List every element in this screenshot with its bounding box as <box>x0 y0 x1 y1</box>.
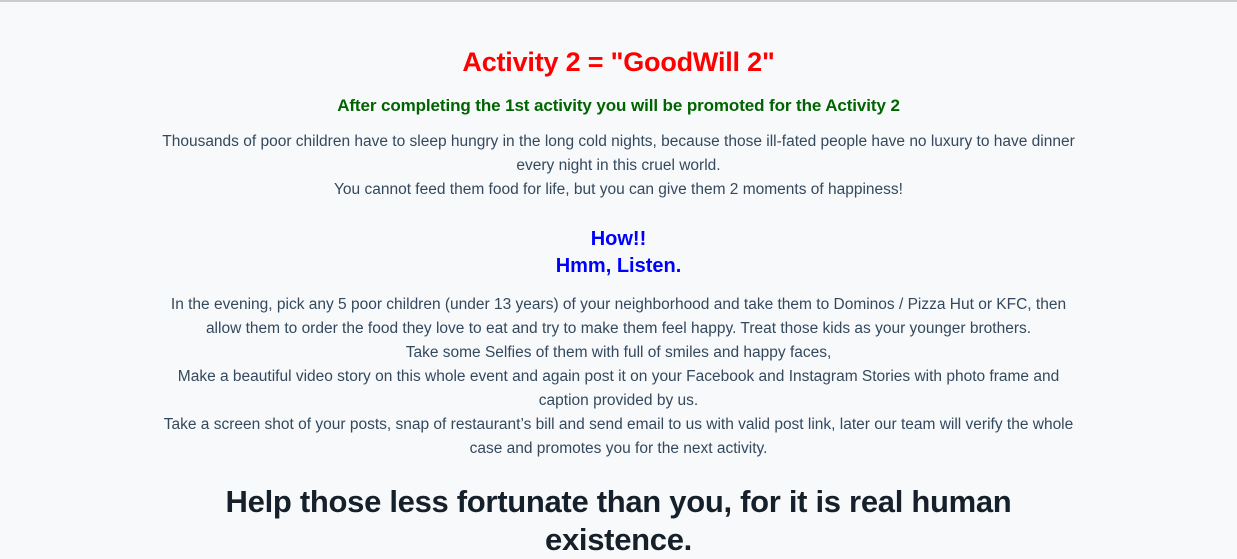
page-subtitle: After completing the 1st activity you wi… <box>154 78 1084 117</box>
instruction-line-3: Make a beautiful video story on this who… <box>154 365 1084 413</box>
intro-line-2: You cannot feed them food for life, but … <box>154 178 1084 202</box>
how-heading-primary: How!! <box>154 202 1084 253</box>
instruction-line-4: Take a screen shot of your posts, snap o… <box>154 413 1084 461</box>
closing-statement: Help those less fortunate than you, for … <box>154 461 1084 559</box>
instructions-paragraph: In the evening, pick any 5 poor children… <box>154 280 1084 461</box>
instruction-line-1: In the evening, pick any 5 poor children… <box>154 293 1084 341</box>
instruction-line-2: Take some Selfies of them with full of s… <box>154 341 1084 365</box>
page-title: Activity 2 = "GoodWill 2" <box>154 2 1084 78</box>
activity-page: Activity 2 = "GoodWill 2" After completi… <box>0 2 1237 559</box>
how-heading-secondary: Hmm, Listen. <box>154 253 1084 280</box>
content-container: Activity 2 = "GoodWill 2" After completi… <box>154 2 1084 559</box>
intro-line-1: Thousands of poor children have to sleep… <box>154 130 1084 178</box>
intro-paragraph: Thousands of poor children have to sleep… <box>154 117 1084 202</box>
